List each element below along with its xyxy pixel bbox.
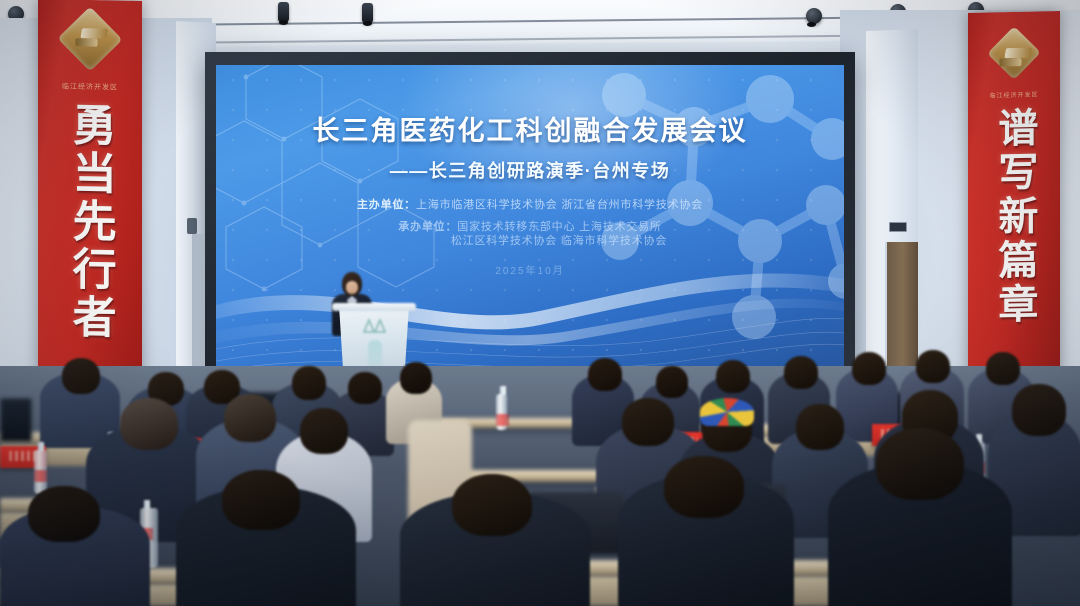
audience-person-head <box>852 352 886 385</box>
audience-person-head <box>876 428 964 500</box>
diamond-emblem-icon <box>987 26 1041 80</box>
slide-date: 2025年10月 <box>216 262 844 277</box>
audience-person-head <box>916 350 950 383</box>
ceiling-spotlight-icon <box>278 2 289 22</box>
audience-person-head <box>224 394 276 442</box>
wall-trim <box>192 234 204 384</box>
audience-person-head <box>222 470 300 530</box>
audience-person-head <box>452 474 532 536</box>
audience-person-head <box>120 398 178 450</box>
podium-emblem-icon <box>362 318 388 334</box>
audience-person-head <box>796 404 844 450</box>
slide-title: 长三角医药化工科创融合发展会议 <box>216 109 844 148</box>
banner-left-subtext: 临江经济开发区 <box>62 81 118 92</box>
audience-person-head <box>300 408 348 454</box>
coorganizer-label: 承办单位： <box>398 221 457 233</box>
audience-person-head <box>28 486 100 542</box>
organizer-value: 上海市临港区科学技术协会 浙江省台州市科学技术协会 <box>416 199 703 211</box>
organizer-label: 主办单位： <box>357 199 416 211</box>
exit-sign-icon <box>889 222 907 232</box>
banner-right-subtext: 临江经济开发区 <box>989 89 1038 99</box>
conference-photo: 临江经济开发区 勇当先行者 临江经济开发区 谱写新篇章 <box>0 0 1080 606</box>
banner-left: 临江经济开发区 勇当先行者 <box>38 0 142 421</box>
audience-person-head <box>716 360 750 393</box>
slide-text-block: 长三角医药化工科创融合发展会议 ——长三角创研路演季·台州专场 主办单位：上海市… <box>216 109 844 277</box>
banner-left-slogan: 勇当先行者 <box>65 102 114 343</box>
slide-coorganizer-block: 承办单位：国家技术转移东部中心 上海技术交易所 松江区科学技术协会 临海市科学技… <box>216 220 844 250</box>
ceiling-spotlight-icon <box>806 8 822 24</box>
slide-subtitle: ——长三角创研路演季·台州专场 <box>216 157 844 183</box>
audience-person-head <box>348 372 382 404</box>
audience-person-head <box>656 366 688 398</box>
slide-organizer-line: 主办单位：上海市临港区科学技术协会 浙江省台州市科学技术协会 <box>216 200 844 212</box>
speaker-face <box>346 281 358 294</box>
water-bottle <box>34 450 47 494</box>
wall-fixture <box>187 218 197 234</box>
coorganizer-line-1: 国家技术转移东部中心 上海技术交易所 <box>457 221 661 233</box>
audience-person-head <box>400 362 432 394</box>
podium-top <box>332 303 416 311</box>
audience-person-head <box>664 456 744 518</box>
patterned-knit-hat <box>700 398 754 426</box>
coorganizer-line-2: 松江区科学技术协会 临海市科学技术协会 <box>393 235 667 247</box>
monitor <box>0 398 32 442</box>
ceiling-spotlight-icon <box>362 3 373 23</box>
audience-person-head <box>588 358 622 391</box>
audience-person-head <box>622 398 674 446</box>
audience-person-head <box>986 352 1020 385</box>
led-screen: 长三角医药化工科创融合发展会议 ——长三角创研路演季·台州专场 主办单位：上海市… <box>216 65 844 369</box>
audience-person-head <box>62 358 100 394</box>
audience-person-head <box>1012 384 1066 436</box>
diamond-emblem-icon <box>57 6 122 71</box>
led-screen-frame: 长三角医药化工科创融合发展会议 ——长三角创研路演季·台州专场 主办单位：上海市… <box>205 52 855 382</box>
audience-person-head <box>784 356 818 389</box>
audience-person-head <box>292 366 326 400</box>
banner-right-slogan: 谱写新篇章 <box>992 107 1037 328</box>
water-bottle <box>496 394 507 430</box>
